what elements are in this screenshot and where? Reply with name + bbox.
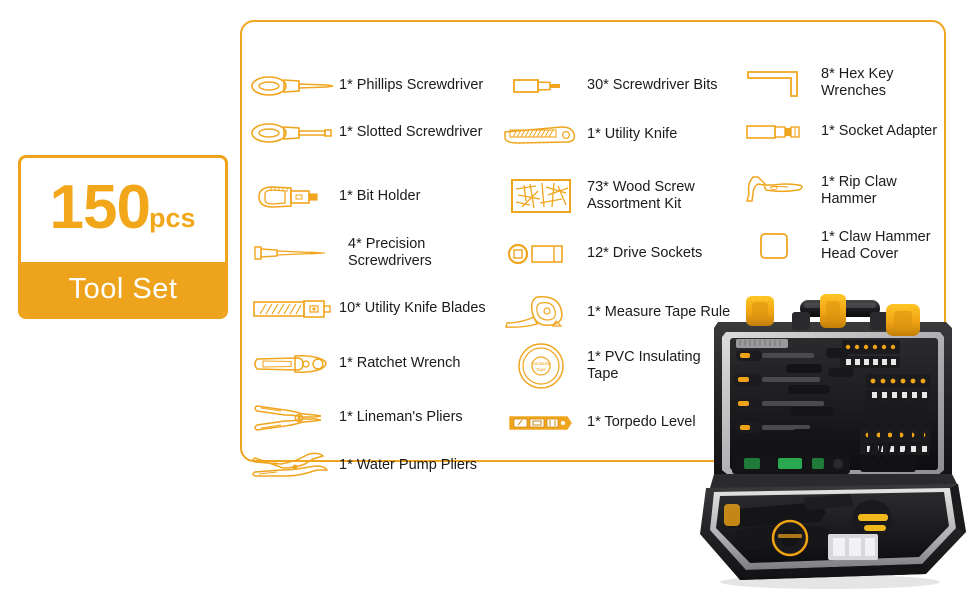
tool-case-photo — [700, 282, 970, 600]
pieces-count-badge: 150 pcs Tool Set — [18, 155, 228, 319]
list-item-ratchet-wrench: 1* Ratchet Wrench — [250, 342, 460, 386]
list-item-label: 1* Claw Hammer Head Cover — [818, 229, 931, 263]
list-item-torpedo-level: 1* Torpedo Level — [498, 401, 696, 445]
list-item-label: 1* Socket Adapter — [818, 123, 937, 140]
list-item-label: 1* Slotted Screwdriver — [336, 124, 482, 141]
svg-text:Tape: Tape — [536, 367, 546, 372]
list-item-label: 1* Ratchet Wrench — [336, 355, 460, 372]
drive-sockets-icon — [498, 232, 584, 276]
badge-label-row: Tool Set — [21, 262, 225, 316]
bit-holder-icon — [250, 175, 336, 219]
list-item-drive-sockets: 12* Drive Sockets — [498, 232, 702, 276]
list-item-utility-knife-blades: 10* Utility Knife Blades — [250, 287, 486, 331]
list-item-claw-hammer-head-cover: 1* Claw Hammer Head Cover — [732, 224, 931, 268]
torpedo-level-icon — [498, 401, 584, 445]
list-item-label: 8* Hex Key Wrenches — [818, 66, 952, 100]
water-pump-pliers-icon — [250, 444, 336, 488]
list-item-utility-knife: 1* Utility Knife — [498, 113, 677, 157]
list-item-label: 10* Utility Knife Blades — [336, 300, 486, 317]
list-item-pvc-insulating-tape: Insulating Tape 1* PVC Insulating Tape — [498, 344, 701, 388]
hex-key-wrenches-icon — [732, 61, 818, 105]
list-item-phillips-screwdriver: 1* Phillips Screwdriver — [250, 64, 483, 108]
linemans-pliers-icon — [250, 396, 336, 440]
list-item-label: 1* PVC Insulating Tape — [584, 349, 701, 383]
case-latch-left — [746, 296, 774, 326]
list-item-label: 73* Wood Screw Assortment Kit — [584, 179, 695, 213]
measure-tape-rule-icon — [498, 291, 584, 335]
list-item-rip-claw-hammer: 1* Rip Claw Hammer — [732, 169, 952, 213]
list-item-label: 1* Bit Holder — [336, 188, 420, 205]
list-item-label: 1* Lineman's Pliers — [336, 409, 463, 426]
list-item-label: 1* Water Pump Pliers — [336, 457, 477, 474]
list-item-linemans-pliers: 1* Lineman's Pliers — [250, 396, 463, 440]
list-item-hex-key-wrenches: 8* Hex Key Wrenches — [732, 61, 952, 105]
list-item-water-pump-pliers: 1* Water Pump Pliers — [250, 444, 477, 488]
case-latch-center — [820, 294, 846, 328]
list-item-label: 12* Drive Sockets — [584, 245, 702, 262]
badge-count-row: 150 pcs — [21, 158, 225, 262]
precision-screwdriver-icon — [250, 231, 336, 275]
utility-knife-icon — [498, 113, 584, 157]
list-item-label: 4* Precision Screwdrivers — [336, 236, 432, 270]
ratchet-wrench-icon — [250, 342, 336, 386]
phillips-screwdriver-icon — [250, 64, 336, 108]
badge-count-number: 150 — [50, 177, 150, 239]
torpedo-level-in-case — [732, 454, 850, 474]
list-item-socket-adapter: 1* Socket Adapter — [732, 110, 937, 154]
case-latch-right — [886, 304, 920, 336]
rip-claw-hammer-icon — [732, 169, 818, 213]
list-item-label: 1* Utility Knife — [584, 126, 677, 143]
socket-adapter-icon — [732, 110, 818, 154]
list-item-screwdriver-bits: 30* Screwdriver Bits — [498, 64, 718, 108]
list-item-slotted-screwdriver: 1* Slotted Screwdriver — [250, 111, 482, 155]
list-item-label: 30* Screwdriver Bits — [584, 77, 718, 94]
utility-knife-blades-icon — [250, 287, 336, 331]
badge-count-unit: pcs — [149, 205, 196, 232]
wood-screw-kit-icon — [498, 174, 584, 218]
list-item-wood-screw-kit: 73* Wood Screw Assortment Kit — [498, 174, 695, 218]
list-item-measure-tape-rule: 1* Measure Tape Rule — [498, 291, 730, 335]
list-item-bit-holder: 1* Bit Holder — [250, 175, 420, 219]
slotted-screwdriver-icon — [250, 111, 336, 155]
list-item-label: 1* Phillips Screwdriver — [336, 77, 483, 94]
list-item-label: 1* Torpedo Level — [584, 414, 696, 431]
badge-label-text: Tool Set — [69, 273, 178, 306]
list-item-label: 1* Rip Claw Hammer — [818, 174, 952, 208]
claw-hammer-head-cover-icon — [732, 224, 818, 268]
screwdriver-bits-icon — [498, 64, 584, 108]
svg-text:Insulating: Insulating — [531, 361, 551, 366]
list-item-precision-screwdrivers: 4* Precision Screwdrivers — [250, 231, 432, 275]
pvc-insulating-tape-icon: Insulating Tape — [498, 344, 584, 388]
